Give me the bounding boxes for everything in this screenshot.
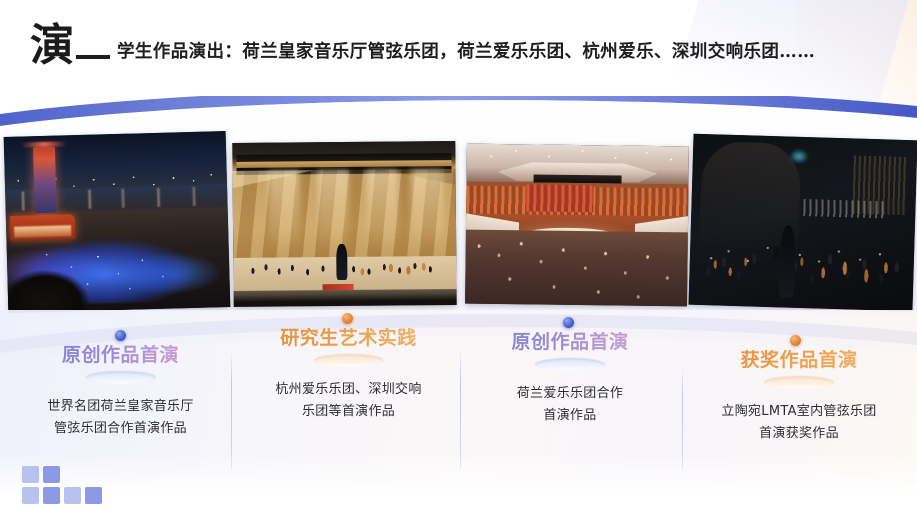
caption-title-2: 研究生艺术实践 xyxy=(246,328,451,349)
decor-square xyxy=(22,466,39,483)
headline-text: 学生作品演出：荷兰皇家音乐厅管弦乐团，荷兰爱乐乐团、杭州爱乐、深圳交响乐团…… xyxy=(117,38,815,68)
caption-marker-dot-2 xyxy=(342,313,353,324)
caption-block-4: 获奖作品首演 立陶宛LMTA室内管弦乐团 首演获奖作品 xyxy=(690,350,908,446)
caption-title-3: 原创作品首演 xyxy=(470,332,670,353)
caption-block-3: 原创作品首演 荷兰爱乐乐团合作 首演作品 xyxy=(470,332,670,428)
caption-title-1: 原创作品首演 xyxy=(18,345,223,366)
caption-line: 乐团等首演作品 xyxy=(246,401,451,423)
caption-line: 杭州爱乐乐团、深圳交响 xyxy=(246,379,451,401)
caption-line: 首演获奖作品 xyxy=(690,423,908,445)
caption-divider-1 xyxy=(231,352,232,468)
caption-divider-3 xyxy=(682,366,683,470)
caption-pedestal-1 xyxy=(86,371,156,384)
caption-pedestal-4 xyxy=(764,376,834,389)
caption-pedestal-2 xyxy=(314,354,384,367)
slide-canvas: 演 学生作品演出：荷兰皇家音乐厅管弦乐团，荷兰爱乐乐团、杭州爱乐、深圳交响乐团…… xyxy=(0,0,917,510)
page-title: 演 学生作品演出：荷兰皇家音乐厅管弦乐团，荷兰爱乐乐团、杭州爱乐、深圳交响乐团…… xyxy=(30,24,815,68)
caption-block-1: 原创作品首演 世界名团荷兰皇家音乐厅 管弦乐团合作首演作品 xyxy=(18,345,223,441)
caption-line: 荷兰爱乐乐团合作 xyxy=(470,383,670,405)
decor-square xyxy=(22,487,39,504)
photo-concert-hall-audience xyxy=(465,144,689,307)
caption-marker-dot-1 xyxy=(115,330,126,341)
caption-pedestal-3 xyxy=(535,358,605,371)
caption-marker-dot-4 xyxy=(790,335,801,346)
photo-outdoor-night-concert xyxy=(4,131,231,313)
caption-line: 管弦乐团合作首演作品 xyxy=(18,418,223,440)
decor-square xyxy=(43,487,60,504)
caption-line: 首演作品 xyxy=(470,405,670,427)
title-glyph: 演 xyxy=(30,24,74,68)
caption-line: 立陶宛LMTA室内管弦乐团 xyxy=(690,401,908,423)
photo-golden-hall-orchestra xyxy=(232,141,456,307)
caption-line: 世界名团荷兰皇家音乐厅 xyxy=(18,396,223,418)
caption-block-2: 研究生艺术实践 杭州爱乐乐团、深圳交响 乐团等首演作品 xyxy=(246,328,451,424)
decor-square xyxy=(85,487,102,504)
decor-square xyxy=(64,487,81,504)
photo-dark-stage-chamber-orchestra xyxy=(689,134,917,312)
background-bottom-fade xyxy=(0,452,917,510)
decor-square xyxy=(43,466,60,483)
caption-divider-2 xyxy=(460,348,461,468)
caption-marker-dot-3 xyxy=(563,317,574,328)
caption-title-4: 获奖作品首演 xyxy=(690,350,908,371)
title-dash-rule xyxy=(76,55,110,59)
